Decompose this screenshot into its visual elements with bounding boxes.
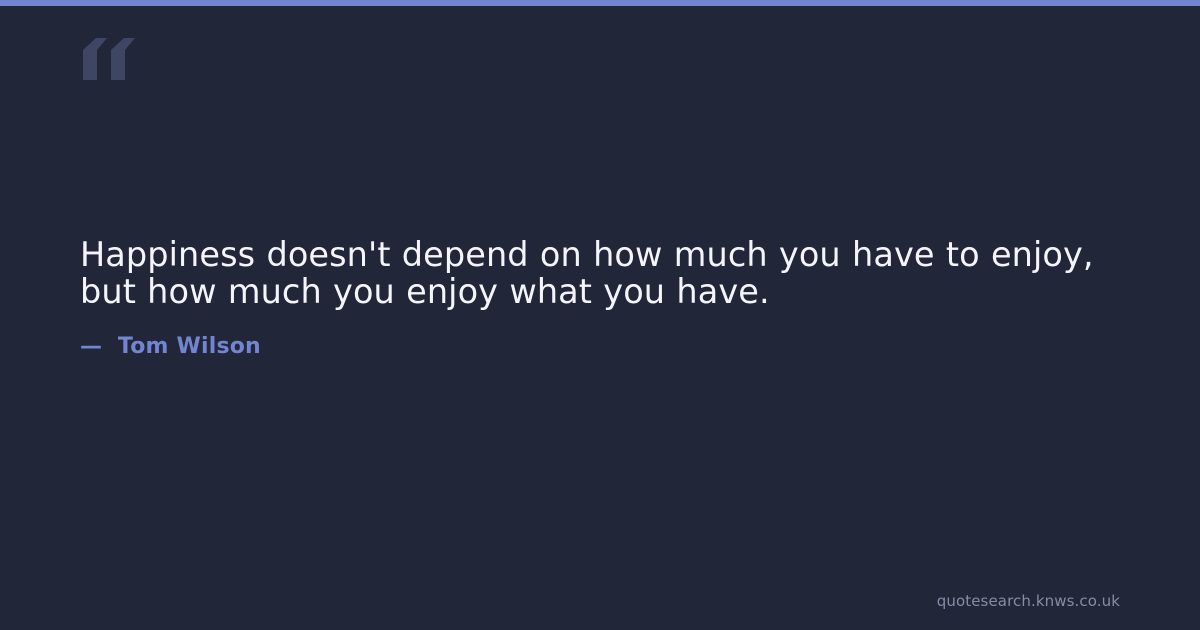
site-watermark: quotesearch.knws.co.uk	[937, 592, 1120, 610]
quote-text: Happiness doesn't depend on how much you…	[80, 236, 1120, 310]
quotation-mark-icon	[83, 38, 135, 80]
attribution-dash: —	[80, 334, 102, 359]
quote-card: Happiness doesn't depend on how much you…	[0, 0, 1200, 630]
quote-attribution: — Tom Wilson	[80, 310, 1120, 360]
quote-content: Happiness doesn't depend on how much you…	[80, 236, 1120, 360]
author-name: Tom Wilson	[118, 334, 261, 359]
opening-quote-icon	[80, 6, 200, 102]
